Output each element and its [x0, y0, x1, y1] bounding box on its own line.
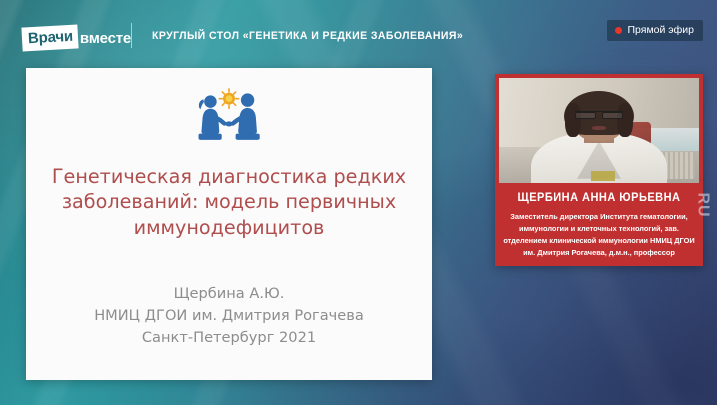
live-badge-label: Прямой эфир — [628, 24, 695, 36]
slide-author: Щербина А.Ю. — [46, 283, 412, 305]
slide-title-line-1: Генетическая диагностика редких — [48, 164, 410, 189]
live-badge: Прямой эфир — [607, 20, 704, 41]
presentation-slide[interactable]: Генетическая диагностика редких заболева… — [26, 68, 432, 380]
speaker-badge — [591, 171, 615, 180]
header-divider — [131, 23, 132, 48]
speaker-mouth — [592, 126, 606, 130]
speaker-hair-right — [617, 103, 633, 137]
speaker-description: Заместитель директора Института гематоло… — [501, 211, 697, 259]
event-title: КРУГЛЫЙ СТОЛ «ГЕНЕТИКА И РЕДКИЕ ЗАБОЛЕВА… — [152, 30, 463, 42]
speaker-video-panel[interactable]: ЩЕРБИНА АННА ЮРЬЕВНА Заместитель директо… — [495, 74, 703, 266]
brand-logo-box: Врачи — [21, 24, 78, 51]
slide-title-line-3: иммунодефицитов — [48, 215, 410, 240]
speaker-video-feed[interactable] — [499, 78, 699, 183]
live-dot-icon — [615, 27, 622, 34]
brand-logo[interactable]: Врачи вместе — [22, 26, 131, 50]
two-children-sun-logo — [188, 86, 270, 144]
speaker-hair-left — [565, 103, 581, 137]
glasses-lens-right — [602, 112, 623, 119]
slide-location-year: Санкт-Петербург 2021 — [46, 327, 412, 349]
broadcast-header: Врачи вместе КРУГЛЫЙ СТОЛ «ГЕНЕТИКА И РЕ… — [0, 0, 717, 68]
broadcast-screen: Врачи вместе КРУГЛЫЙ СТОЛ «ГЕНЕТИКА И РЕ… — [0, 0, 717, 405]
speaker-glasses — [575, 111, 623, 119]
slide-title: Генетическая диагностика редких заболева… — [48, 164, 410, 240]
ru-watermark: RU — [693, 192, 711, 217]
brand-logo-tail: вместе — [80, 30, 131, 47]
speaker-name: ЩЕРБИНА АННА ЮРЬЕВНА — [500, 191, 698, 204]
slide-subtitle: Щербина А.Ю. НМИЦ ДГОИ им. Дмитрия Рогач… — [46, 283, 412, 350]
slide-title-line-2: заболеваний: модель первичных — [48, 189, 410, 214]
glasses-lens-left — [575, 112, 596, 119]
slide-institution: НМИЦ ДГОИ им. Дмитрия Рогачева — [46, 305, 412, 327]
